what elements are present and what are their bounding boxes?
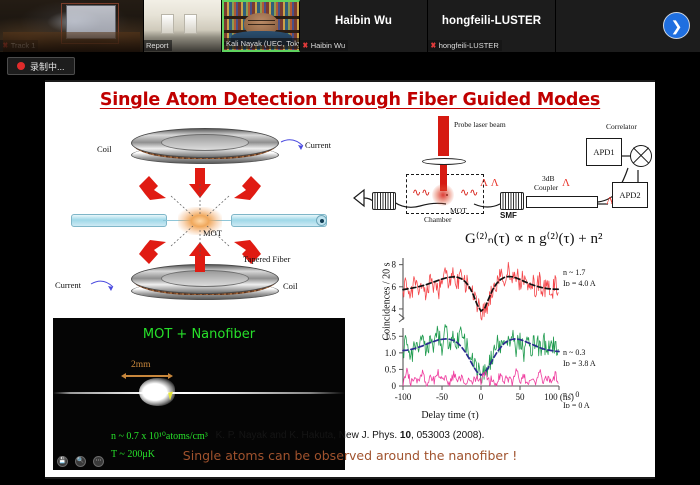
- 3db-coupler-device: [526, 196, 598, 208]
- shared-slide: Single Atom Detection through Fiber Guid…: [45, 82, 655, 477]
- svg-text:-100: -100: [395, 392, 412, 402]
- recording-bar: 录制中...: [0, 52, 700, 80]
- screenshare-left-margin: [0, 80, 45, 485]
- citation-suffix: , 053003 (2008).: [411, 430, 484, 441]
- fiber-spool-input: [372, 192, 396, 210]
- svg-text:4: 4: [392, 304, 397, 314]
- participant-namebar: Kali Nayak (UEC, Tokyo): [224, 38, 300, 49]
- label-chamber: Chamber: [424, 215, 452, 224]
- svg-text:1.5: 1.5: [385, 331, 397, 341]
- nanofiber-line: [53, 392, 345, 394]
- citation-volume: 10: [400, 430, 411, 441]
- glasses-icon: [248, 20, 275, 25]
- recording-indicator[interactable]: 录制中...: [7, 57, 75, 75]
- photo-title: MOT + Nanofiber: [53, 327, 345, 342]
- svg-text:1.0: 1.0: [385, 348, 397, 358]
- svg-text:8: 8: [392, 260, 397, 270]
- participant-tile-track-1[interactable]: ✖ Track 1: [0, 0, 144, 52]
- focusing-lens: [422, 158, 466, 165]
- annotation-n-value: n ~ 0: [563, 390, 590, 401]
- participant-namebar: Report: [144, 40, 172, 51]
- participant-display-name: Haibin Wu: [335, 15, 392, 27]
- svg-text:6: 6: [392, 282, 397, 292]
- label-current-bottom: Current: [55, 280, 81, 290]
- apd1-detector: APD1: [586, 138, 622, 166]
- filmstrip-next-page-button[interactable]: ❯: [663, 12, 690, 39]
- chart-plot-area: 46800.51.01.5-100-50050100 (ns): [345, 250, 645, 410]
- mic-muted-icon: ✖: [303, 42, 308, 50]
- zoom-meeting-window: ✖ Track 1 Report Kali Nayak (UEC, Tokyo)…: [0, 0, 700, 485]
- label-coil-top: Coil: [97, 144, 112, 154]
- participant-display-name: hongfeili-LUSTER: [442, 15, 541, 27]
- svg-text:-50: -50: [436, 392, 448, 402]
- correlation-equation: G⁽²⁾ₙ(τ) ∝ n g⁽²⁾(τ) + n²: [465, 229, 603, 248]
- page-title: Single Atom Detection through Fiber Guid…: [45, 90, 655, 110]
- photon-pulse-icon: Λ Λ: [480, 178, 499, 189]
- scale-bar-label: 2mm: [131, 360, 151, 370]
- label-correlator: Correlator: [606, 122, 637, 131]
- annotation-current-value: Iᴅ = 3.8 A: [563, 359, 596, 370]
- svg-text:0.5: 0.5: [385, 364, 397, 374]
- recording-label: 录制中...: [30, 60, 65, 73]
- label-mot-chamber: MOT: [450, 206, 467, 215]
- screenshare-right-margin: [655, 80, 700, 485]
- participant-tile-report[interactable]: Report: [144, 0, 222, 52]
- series-annotation-green: n ~ 0.3 Iᴅ = 3.8 A: [563, 348, 596, 370]
- tile-highlight-frame: [61, 3, 118, 44]
- svg-text:0: 0: [479, 392, 484, 402]
- equation-text: G⁽²⁾ₙ(τ) ∝ n g⁽²⁾(τ) + n²: [465, 231, 603, 247]
- slide-tagline: Single atoms can be observed around the …: [45, 448, 655, 463]
- mic-muted-icon: ✖: [3, 42, 8, 50]
- citation-line: K. P. Nayak and K. Hakuta, New J. Phys. …: [45, 430, 655, 441]
- chevron-right-icon: ❯: [671, 19, 683, 33]
- participant-name: Kali Nayak (UEC, Tokyo): [226, 39, 300, 48]
- participant-namebar: ✖ Track 1: [0, 40, 38, 51]
- annotation-n-value: n ~ 0.3: [563, 348, 596, 359]
- photon-pulse-icon: Λ: [562, 178, 570, 189]
- screenshare-bottom-margin: [0, 479, 700, 485]
- annotation-current-value: Iᴅ = 4.0 A: [563, 279, 596, 290]
- label-tapered-fiber: Tapered Fiber: [243, 254, 290, 264]
- mot-cloud-in-chamber: [432, 184, 454, 206]
- scattered-photon-icon: ∿∿: [460, 188, 478, 199]
- label-coupler-line1: 3dB: [542, 174, 555, 183]
- participant-name: Track 1: [11, 41, 36, 50]
- record-dot-icon: [17, 62, 25, 70]
- label-probe-laser-beam: Probe laser beam: [454, 120, 506, 129]
- g2-correlation-chart: Coincidences / 20 s Delay time (τ) 46800…: [345, 250, 645, 428]
- scattered-photon-icon: ∿∿: [412, 188, 430, 199]
- scale-bar: [125, 375, 169, 377]
- participant-name: hongfeili-LUSTER: [439, 41, 499, 50]
- annotation-n-value: n ~ 1.7: [563, 268, 596, 279]
- apd2-detector: APD2: [612, 182, 648, 208]
- mot-schematic-diagram: Coil Current MOT Tapered Fiber Current C…: [53, 124, 345, 314]
- participant-namebar: ✖ hongfeili-LUSTER: [428, 40, 502, 51]
- participant-filmstrip: ✖ Track 1 Report Kali Nayak (UEC, Tokyo)…: [0, 0, 700, 52]
- label-smf: SMF: [500, 211, 517, 220]
- series-annotation-red: n ~ 1.7 Iᴅ = 4.0 A: [563, 268, 596, 290]
- participant-namebar: ✖ Haibin Wu: [300, 40, 348, 51]
- chart-x-axis-label: Delay time (τ): [355, 410, 545, 421]
- fiber-spool-smf: [500, 192, 524, 210]
- svg-text:0: 0: [392, 381, 397, 391]
- label-current-top: Current: [305, 140, 331, 150]
- participant-tile-hongfeili-luster[interactable]: hongfeili-LUSTER ✖ hongfeili-LUSTER: [428, 0, 556, 52]
- correlator-device: [630, 145, 652, 167]
- label-coupler-line2: Coupler: [534, 183, 558, 192]
- participant-tile-haibin-wu[interactable]: Haibin Wu ✖ Haibin Wu: [300, 0, 428, 52]
- mic-muted-icon: ✖: [431, 42, 436, 50]
- citation-prefix: K. P. Nayak and K. Hakuta, New J. Phys.: [216, 430, 400, 441]
- participant-tile-kali-nayak[interactable]: Kali Nayak (UEC, Tokyo): [222, 0, 300, 52]
- probe-laser-beam: [438, 116, 449, 156]
- label-coil-bottom: Coil: [283, 281, 298, 291]
- series-annotation-magenta: n ~ 0 Iᴅ = 0 A: [563, 390, 590, 412]
- ceiling-panel-right: [184, 14, 197, 34]
- participant-name: Haibin Wu: [311, 41, 345, 50]
- svg-text:50: 50: [516, 392, 526, 402]
- optical-setup-diagram: ∿∿ ∿∿ Λ Λ Λ Λ APD1 APD2 Probe laser beam…: [350, 116, 650, 224]
- label-mot: MOT: [203, 228, 222, 238]
- annotation-current-value: Iᴅ = 0 A: [563, 401, 590, 412]
- participant-name: Report: [146, 41, 169, 50]
- ceiling-panel-left: [161, 14, 174, 34]
